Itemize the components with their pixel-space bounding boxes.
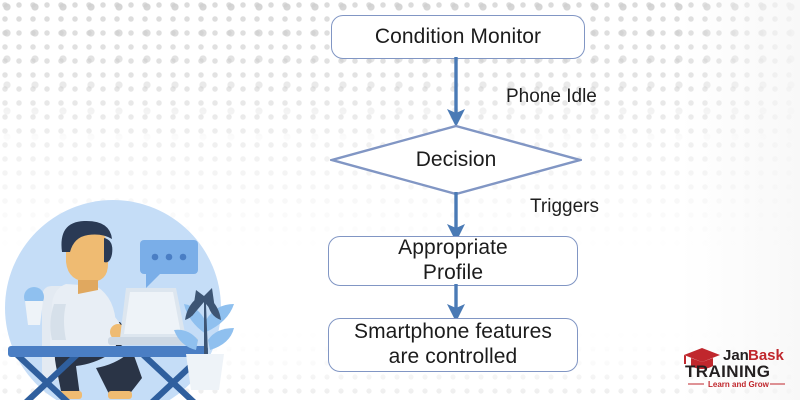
janbask-training-logo: Jan Bask TRAINING Learn and Grow <box>682 344 790 390</box>
person-working-at-desk-illustration <box>0 198 250 400</box>
connector-condition-monitor-to-decision <box>440 57 472 129</box>
flow-node-label: Smartphone features are controlled <box>346 320 560 370</box>
slide-canvas: Condition Monitor Phone Idle Decision Tr… <box>0 0 800 400</box>
logo-tagline: Learn and Grow <box>708 380 770 389</box>
logo-word-training: TRAINING <box>685 362 770 381</box>
flow-node-condition-monitor: Condition Monitor <box>331 15 585 59</box>
flow-node-label: Appropriate Profile <box>390 236 516 286</box>
flow-node-label: Condition Monitor <box>367 25 549 50</box>
edge-label-triggers: Triggers <box>530 196 599 218</box>
flow-node-label: Decision <box>330 124 582 196</box>
flow-node-appropriate-profile: Appropriate Profile <box>328 236 578 286</box>
flow-node-decision: Decision <box>330 124 582 196</box>
flow-node-smartphone-features: Smartphone features are controlled <box>328 318 578 372</box>
edge-label-phone-idle: Phone Idle <box>506 86 597 108</box>
right-edge-fade <box>680 0 800 400</box>
